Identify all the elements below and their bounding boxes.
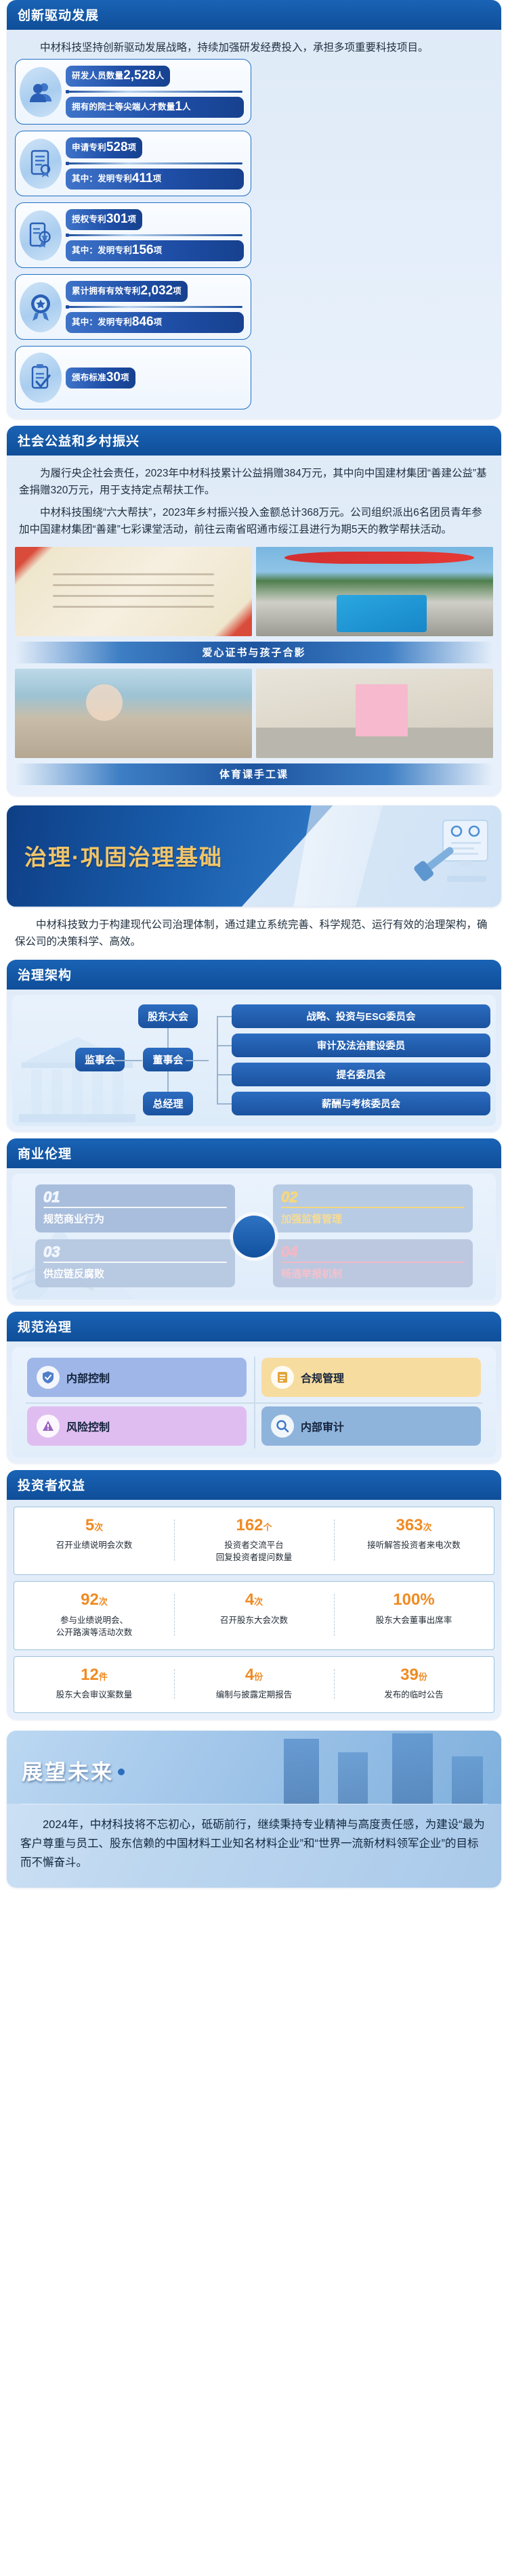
tile-label-compliance: 合规管理 [301,1369,344,1385]
photo-group-volunteers [256,547,493,636]
stat-pill-secondary: 其中：发明专利846项 [66,312,244,333]
kpi-calls-answered: 363次 接听解答投资者来电次数 [334,1517,494,1564]
ethics-label-03: 供应链反腐败 [43,1266,227,1281]
tile-internal-audit: 内部审计 [261,1406,481,1446]
stat-pill-secondary: 拥有的院士等尖端人才数量1人 [66,97,244,118]
kpi-desc: 召开业绩说明会次数 [20,1539,169,1551]
org-chart: 监事会 股东大会 董事会 总经理 战略、投资与ESG委员会 审计及法治建设委员 … [12,995,496,1126]
standard-tiles: 内部控制 合规管理 风险控制 [12,1347,496,1458]
infographic-page: 创新驱动发展 中材科技坚持创新驱动发展战略，持续加强研发经费投入，承担多项重要科… [0,0,508,1888]
stat-divider [67,91,242,93]
building-shape [284,1739,319,1804]
kpi-desc: 股东大会董事出席率 [339,1614,488,1626]
medal-icon [20,282,62,332]
ethics-item-03: 03 供应链反腐败 [35,1239,235,1287]
building-shape [452,1756,483,1804]
section-governance-structure: 治理架构 监事会 股东大会 [7,960,501,1132]
ethics-label-04: 畅通举报机制 [281,1266,465,1281]
kpi-value: 162个 [179,1517,329,1534]
photo-row-two [15,669,493,758]
stat-card-standards: 颁布标准30项 [15,346,251,409]
ethics-number-02: 02 [281,1190,297,1207]
certificate-award-icon [20,210,62,261]
ethics-rule [281,1262,465,1263]
stat-pill-primary: 累计拥有有效专利2,032项 [66,281,188,302]
stat-lines: 研发人员数量2,528人 拥有的院士等尖端人才数量1人 [66,66,244,118]
tile-label-internal-audit: 内部审计 [301,1418,344,1434]
ethics-label-02: 加强监督管理 [281,1212,465,1226]
kpi-desc: 股东大会审议案数量 [20,1689,169,1701]
social-para-1: 为履行央企社会责任，2023年中材科技累计公益捐赠384万元，其中向中国建材集团… [15,462,493,502]
kpi-shareholder-meetings: 4次 召开股东大会次数 [174,1591,334,1639]
governance-intro: 中材科技致力于构建现代公司治理体制，通过建立系统完善、科学规范、运行有效的治理架… [11,914,497,953]
section-title-innovation: 创新驱动发展 [7,0,501,30]
compliance-icon [271,1366,294,1389]
section-title-structure: 治理架构 [7,960,501,990]
shield-control-icon [37,1366,60,1389]
outlook-title-dot [118,1769,125,1775]
stat-divider [67,234,242,236]
section-investor-rights: 投资者权益 5次 召开业绩说明会次数 162个 投资者交流平台 回复投资者提问数… [7,1470,501,1720]
stat-divider [67,162,242,164]
kpi-value: 39份 [339,1666,488,1684]
outlook-divider [20,1804,488,1804]
kpi-resolutions: 12件 股东大会审议案数量 [14,1666,174,1702]
org-supervisor-col: 监事会 [33,1004,127,1115]
stat-card-rd-people: 研发人员数量2,528人 拥有的院士等尖端人才数量1人 [15,59,251,125]
section-outlook: 展望未来 2024年，中材科技将不忘初心，砥砺前行，继续秉持专业精神与高度责任感… [7,1731,501,1888]
tile-internal-control: 内部控制 [27,1358,247,1397]
ethics-body: 01 规范商业行为 02 加强监督管理 03 供应链反腐败 [7,1168,501,1305]
tile-label-risk-control: 风险控制 [66,1418,110,1434]
ethics-item-04: 04 畅通举报机制 [273,1239,473,1287]
building-shape [392,1733,433,1804]
kpi-row-2: 92次 参与业绩说明会、 公开路演等活动次数 4次 召开股东大会次数 100% … [14,1581,494,1650]
outlook-body-text: 2024年，中材科技将不忘初心，砥砺前行，继续秉持专业精神与高度责任感，为建设“… [7,1811,501,1888]
stat-pill-primary: 申请专利528项 [66,137,142,158]
building-shape [338,1752,368,1804]
stat-card-patent-granted: 授权专利301项 其中：发明专利156项 [15,202,251,268]
stat-divider [67,306,242,308]
kpi-desc: 发布的临时公告 [339,1689,488,1701]
ethics-item-01: 01 规范商业行为 [35,1184,235,1233]
outlook-title: 展望未来 [22,1755,125,1785]
kpi-row-1: 5次 召开业绩说明会次数 162个 投资者交流平台 回复投资者提问数量 363次… [14,1507,494,1576]
social-para-2: 中材科技围绕“六大帮扶”，2023年乡村振兴投入金额总计368万元。公司组织派出… [15,502,493,541]
ethics-number-03: 03 [43,1245,60,1262]
org-node-committee-strategy: 战略、投资与ESG委员会 [232,1004,490,1028]
kpi-interim-announcements: 39份 发布的临时公告 [334,1666,494,1702]
kpi-platform-replies: 162个 投资者交流平台 回复投资者提问数量 [174,1517,334,1564]
stat-card-patent-applied: 申请专利528项 其中：发明专利411项 [15,131,251,196]
stat-pill-secondary: 其中：发明专利411项 [66,169,244,190]
stat-pill-primary: 颁布标准30项 [66,368,135,388]
governance-hero-title: 治理·巩固治理基础 [24,839,223,872]
photo-row-one [15,547,493,636]
innovation-stat-grid: 研发人员数量2,528人 拥有的院士等尖端人才数量1人 [15,59,493,409]
photo-pe-class [15,669,252,758]
ethics-label-01: 规范商业行为 [43,1212,227,1226]
ethics-number-01: 01 [43,1190,60,1207]
stat-lines: 授权专利301项 其中：发明专利156项 [66,209,244,261]
kpi-desc: 参与业绩说明会、 公开路演等活动次数 [20,1614,169,1639]
innovation-body: 中材科技坚持创新驱动发展战略，持续加强研发经费投入，承担多项重要科技项目。 研发… [7,30,501,419]
kpi-value: 5次 [20,1517,169,1534]
ethics-item-02: 02 加强监督管理 [273,1184,473,1233]
org-node-gm: 总经理 [143,1092,192,1115]
stat-card-patent-effective: 累计拥有有效专利2,032项 其中：发明专利846项 [15,274,251,340]
investor-body: 5次 召开业绩说明会次数 162个 投资者交流平台 回复投资者提问数量 363次… [7,1500,501,1720]
kpi-value: 100% [339,1591,488,1609]
kpi-results-briefings: 5次 召开业绩说明会次数 [14,1517,174,1564]
outlook-banner: 展望未来 [7,1731,501,1804]
ethics-center-hub [233,1216,275,1258]
social-body: 为履行央企社会责任，2023年中材科技累计公益捐赠384万元，其中向中国建材集团… [7,456,501,795]
org-node-supervisor: 监事会 [75,1048,125,1071]
structure-body: 监事会 股东大会 董事会 总经理 战略、投资与ESG委员会 审计及法治建设委员 … [7,990,501,1132]
kpi-director-attendance: 100% 股东大会董事出席率 [334,1591,494,1639]
kpi-row-3: 12件 股东大会审议案数量 4份 编制与披露定期报告 39份 发布的临时公告 [14,1656,494,1713]
gavel-screen-icon [412,816,492,895]
stat-lines: 申请专利528项 其中：发明专利411项 [66,137,244,190]
stat-pill-secondary: 其中：发明专利156项 [66,240,244,261]
ethics-diagram: 01 规范商业行为 02 加强监督管理 03 供应链反腐败 [12,1174,496,1300]
org-committees-col: 战略、投资与ESG委员会 审计及法治建设委员 提名委员会 薪酬与考核委员会 [209,1004,490,1115]
section-title-standard: 规范治理 [7,1312,501,1341]
ethics-number-04: 04 [281,1245,297,1262]
kpi-value: 4份 [179,1666,329,1684]
org-connector [186,1060,209,1061]
org-node-committee-audit: 审计及法治建设委员 [232,1034,490,1057]
tile-label-internal-control: 内部控制 [66,1369,110,1385]
innovation-intro: 中材科技坚持创新驱动发展战略，持续加强研发经费投入，承担多项重要科技项目。 [15,37,493,59]
photo-caption-one: 爱心证书与孩子合影 [15,642,493,663]
ethics-rule [43,1262,227,1263]
section-social-welfare: 社会公益和乡村振兴 为履行央企社会责任，2023年中材科技累计公益捐赠384万元… [7,426,501,795]
stat-lines: 累计拥有有效专利2,032项 其中：发明专利846项 [66,281,244,333]
kpi-periodic-reports: 4份 编制与披露定期报告 [174,1666,334,1702]
section-business-ethics: 商业伦理 01 规范商业行为 02 [7,1138,501,1305]
kpi-desc: 投资者交流平台 回复投资者提问数量 [179,1539,329,1563]
section-title-ethics: 商业伦理 [7,1138,501,1168]
org-node-committee-nomination: 提名委员会 [232,1063,490,1086]
photo-caption-two: 体育课手工课 [15,763,493,785]
ethics-rule [43,1207,227,1208]
clipboard-check-icon [20,353,62,403]
kpi-value: 363次 [339,1517,488,1534]
stat-pill-primary: 授权专利301项 [66,209,142,230]
stat-pill-primary: 研发人员数量2,528人 [66,66,170,87]
section-innovation: 创新驱动发展 中材科技坚持创新驱动发展战略，持续加强研发经费投入，承担多项重要科… [7,0,501,419]
patent-document-icon [20,139,62,189]
section-standard-governance: 规范治理 内部控制 合规管理 [7,1312,501,1463]
tile-risk-control: 风险控制 [27,1406,247,1446]
governance-hero-banner: 治理·巩固治理基础 [7,805,501,907]
org-inner: 监事会 股东大会 董事会 总经理 战略、投资与ESG委员会 审计及法治建设委员 … [18,1004,490,1115]
kpi-desc: 编制与披露定期报告 [179,1689,329,1701]
risk-icon [37,1415,60,1438]
stat-lines: 颁布标准30项 [66,368,244,388]
standard-body: 内部控制 合规管理 风险控制 [7,1341,501,1463]
kpi-roadshows: 92次 参与业绩说明会、 公开路演等活动次数 [14,1591,174,1639]
org-node-shareholders: 股东大会 [138,1004,198,1028]
section-title-social: 社会公益和乡村振兴 [7,426,501,456]
org-node-committee-remuneration: 薪酬与考核委员会 [232,1092,490,1115]
ethics-rule [281,1207,465,1208]
tile-compliance: 合规管理 [261,1358,481,1397]
audit-icon [271,1415,294,1438]
people-icon [20,67,62,117]
kpi-value: 12件 [20,1666,169,1684]
kpi-desc: 召开股东大会次数 [179,1614,329,1626]
kpi-value: 4次 [179,1591,329,1609]
photo-craft-class [256,669,493,758]
section-title-investor: 投资者权益 [7,1470,501,1500]
photo-love-certificate [15,547,252,636]
kpi-desc: 接听解答投资者来电次数 [339,1539,488,1551]
kpi-value: 92次 [20,1591,169,1609]
